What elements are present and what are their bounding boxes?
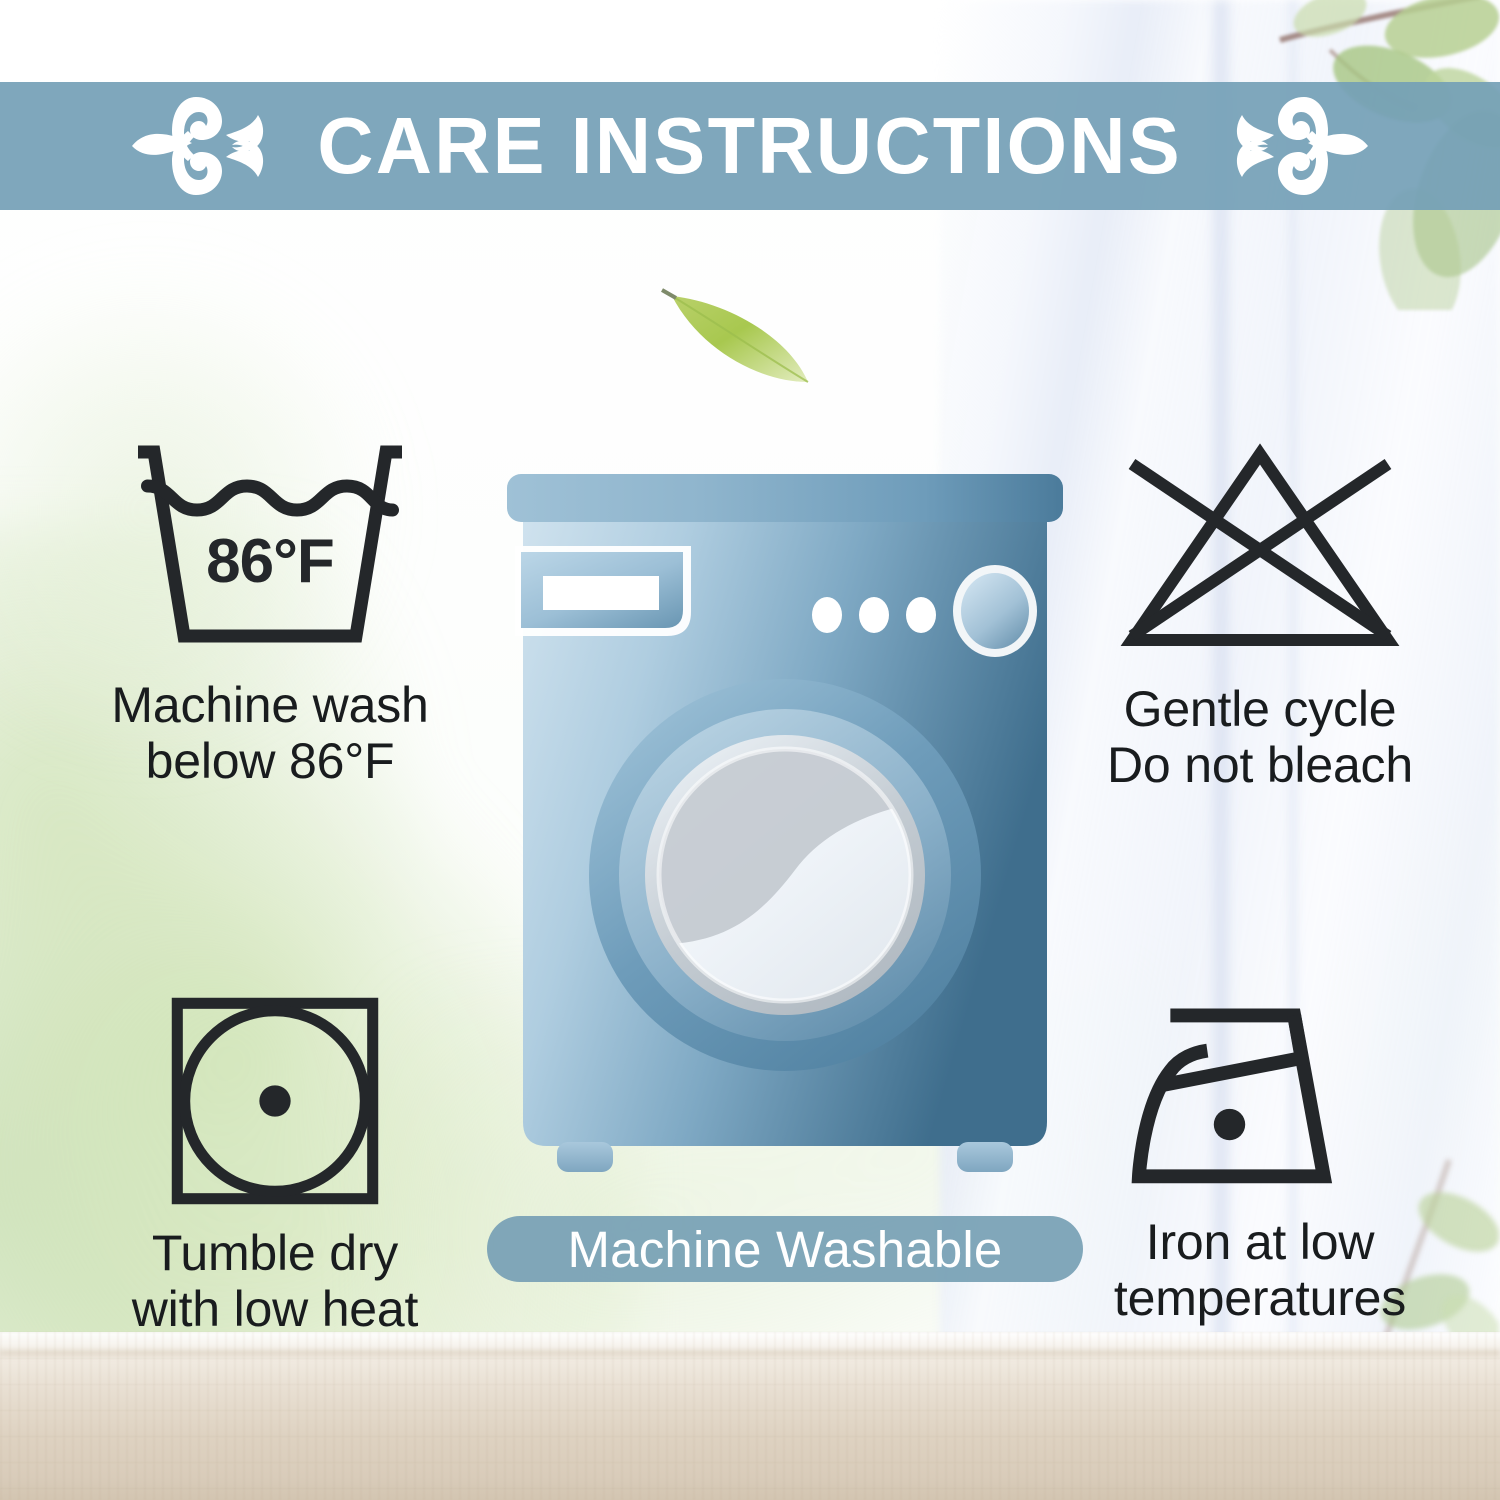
- care-symbol-caption-iron-low: Iron at low temperatures: [1114, 1214, 1406, 1326]
- header-banner: CARE INSTRUCTIONS: [0, 82, 1500, 210]
- page-title: CARE INSTRUCTIONS: [318, 106, 1183, 186]
- care-symbol-tumble-dry: Tumble dry with low heat: [60, 995, 490, 1337]
- iron-low-heat-icon: [1126, 995, 1394, 1194]
- washing-machine-illustration: [495, 470, 1075, 1200]
- washer-indicator-light-3: [906, 597, 936, 633]
- care-symbol-do-not-bleach: Gentle cycle Do not bleach: [1045, 440, 1475, 793]
- fleur-de-lis-left-icon: [126, 91, 266, 201]
- washer-dial-knob[interactable]: [953, 565, 1037, 657]
- machine-washable-badge-label: Machine Washable: [567, 1224, 1002, 1275]
- washer-indicator-light-1: [812, 597, 842, 633]
- tumble-dry-low-icon: [169, 995, 381, 1207]
- care-symbol-caption-machine-wash: Machine wash below 86°F: [111, 677, 428, 789]
- washer-foot-right: [957, 1142, 1013, 1172]
- wood-table-edge: [0, 1348, 1500, 1358]
- care-symbol-machine-wash: 86°F Machine wash below 86°F: [55, 440, 485, 789]
- crossed-triangle-icon: [1110, 440, 1410, 655]
- care-symbol-iron-low: Iron at low temperatures: [1045, 995, 1475, 1326]
- washer-top-lid: [507, 474, 1063, 522]
- wash-temperature-value: 86°F: [120, 526, 420, 597]
- fleur-de-lis-right-icon: [1234, 91, 1374, 201]
- washer-foot-left: [557, 1142, 613, 1172]
- washer-indicator-lights: [812, 597, 936, 633]
- machine-washable-badge: Machine Washable: [487, 1216, 1083, 1282]
- washer-detergent-drawer[interactable]: [515, 546, 691, 636]
- care-symbol-caption-tumble-dry: Tumble dry with low heat: [132, 1225, 418, 1337]
- washer-indicator-light-2: [859, 597, 889, 633]
- floating-leaf-icon: [648, 278, 868, 398]
- care-symbol-caption-do-not-bleach: Gentle cycle Do not bleach: [1107, 681, 1413, 793]
